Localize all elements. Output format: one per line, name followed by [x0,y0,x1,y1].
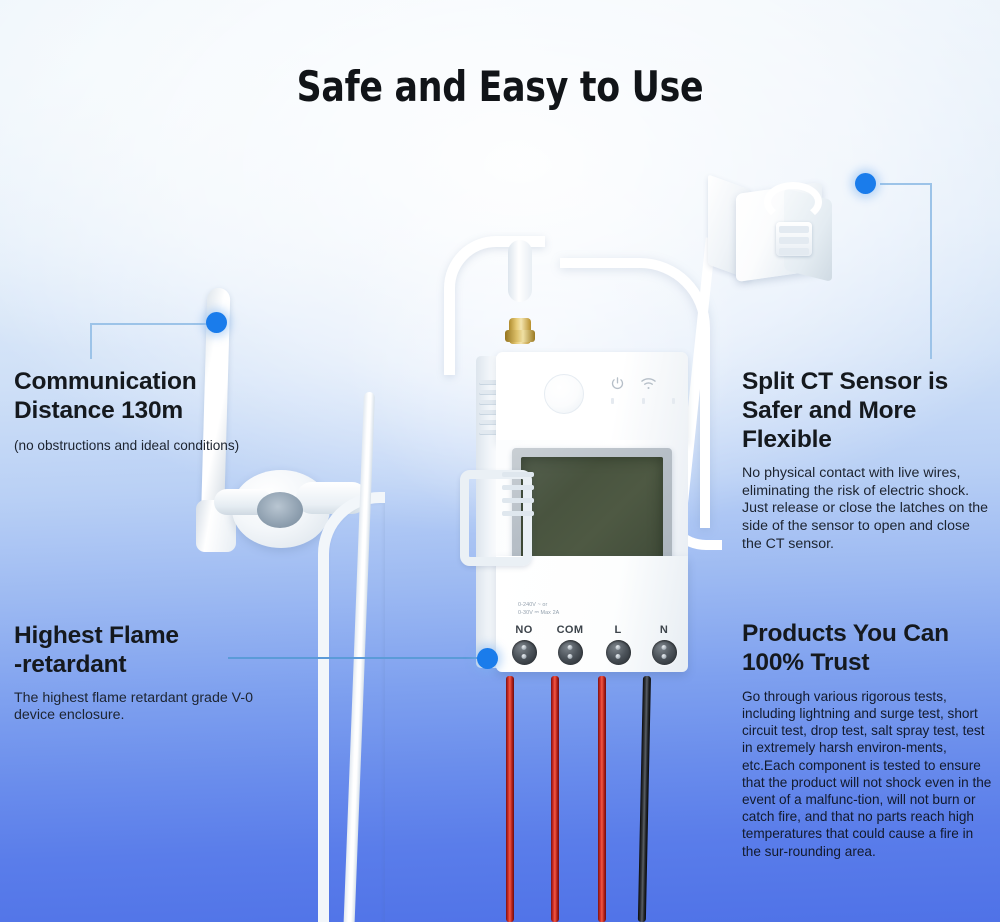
connector-line-top-right-v [930,183,932,359]
terminal-label: COM [550,624,590,636]
terminal-screw [558,640,583,665]
callout-heading: Communication Distance 130m [14,368,260,426]
callout-heading: Split CT Sensor is Safer and More Flexib… [742,368,992,455]
output-wire-red-2 [551,676,559,922]
terminal-screw [606,640,631,665]
terminal-label: L [598,624,638,636]
infographic-canvas: Safe and Easy to Use [0,0,1000,922]
callout-heading-line1: Products You Can [742,620,949,647]
connector-dot-bottom-left [477,648,498,669]
callout-heading-line2: 100% Trust [742,649,869,676]
callout-heading-line2: Safer and More [742,397,916,424]
terminal-l[interactable]: L [598,624,638,665]
output-wire-red-1 [506,676,514,922]
device-top-panel [496,352,688,444]
callout-heading-line1: Highest Flame [14,622,179,649]
callout-products-trust: Products You Can 100% Trust Go through v… [742,620,994,860]
connector-line-top-left-h [90,323,218,325]
output-wire-red-3 [598,676,606,922]
ct-sensor-latch [776,222,812,256]
callout-heading: Products You Can 100% Trust [742,620,994,678]
terminal-com[interactable]: COM [550,624,590,665]
ct-sensor-clamp-jaw [764,182,822,222]
connector-line-top-left-v [90,323,92,359]
connector-dot-top-right [855,173,876,194]
connector-dot-top-left [206,312,227,333]
terminal-label: NO [504,624,544,636]
callout-body: No physical contact with live wires, eli… [742,465,992,554]
callout-heading-line3: Flexible [742,426,832,453]
voltage-rating-line1: 0-240V ~ or [518,602,614,610]
callout-flame-retardant: Highest Flame -retardant The highest fla… [14,622,284,725]
callout-heading-line2: Distance 130m [14,397,183,424]
callout-heading-line1: Communication [14,368,197,395]
terminal-n[interactable]: N [644,624,684,665]
terminal-screw [652,640,677,665]
callout-communication-distance: Communication Distance 130m (no obstruct… [14,368,260,455]
terminal-no[interactable]: NO [504,624,544,665]
callout-heading-line1: Split CT Sensor is [742,368,948,395]
callout-body: (no obstructions and ideal conditions) [14,438,260,455]
callout-heading-line2: -retardant [14,651,126,678]
voltage-rating-line2: 0-30V ⎓ Max 2A [518,610,614,618]
connector-line-top-right-h [880,183,932,185]
energy-meter-device: 0-240V ~ or 0-30V ⎓ Max 2A NO COM L N [476,352,688,672]
grommet-ring [257,492,303,528]
wifi-icon [640,376,657,391]
terminal-label: N [644,624,684,636]
power-icon [610,376,625,391]
voltage-rating: 0-240V ~ or 0-30V ⎓ Max 2A [518,602,614,618]
sma-connector-nut [505,330,535,342]
callout-split-ct-sensor: Split CT Sensor is Safer and More Flexib… [742,368,992,554]
terminal-screw [512,640,537,665]
output-wire-black [638,676,651,922]
callout-body: The highest flame retardant grade V-0 de… [14,690,284,725]
din-rail-clip-fins [502,472,534,534]
device-button[interactable] [544,374,584,414]
callout-body: Go through various rigorous tests, inclu… [742,688,994,860]
split-ct-sensor [700,180,836,292]
callout-heading: Highest Flame -retardant [14,622,284,680]
antenna-cable-segment [508,240,532,302]
